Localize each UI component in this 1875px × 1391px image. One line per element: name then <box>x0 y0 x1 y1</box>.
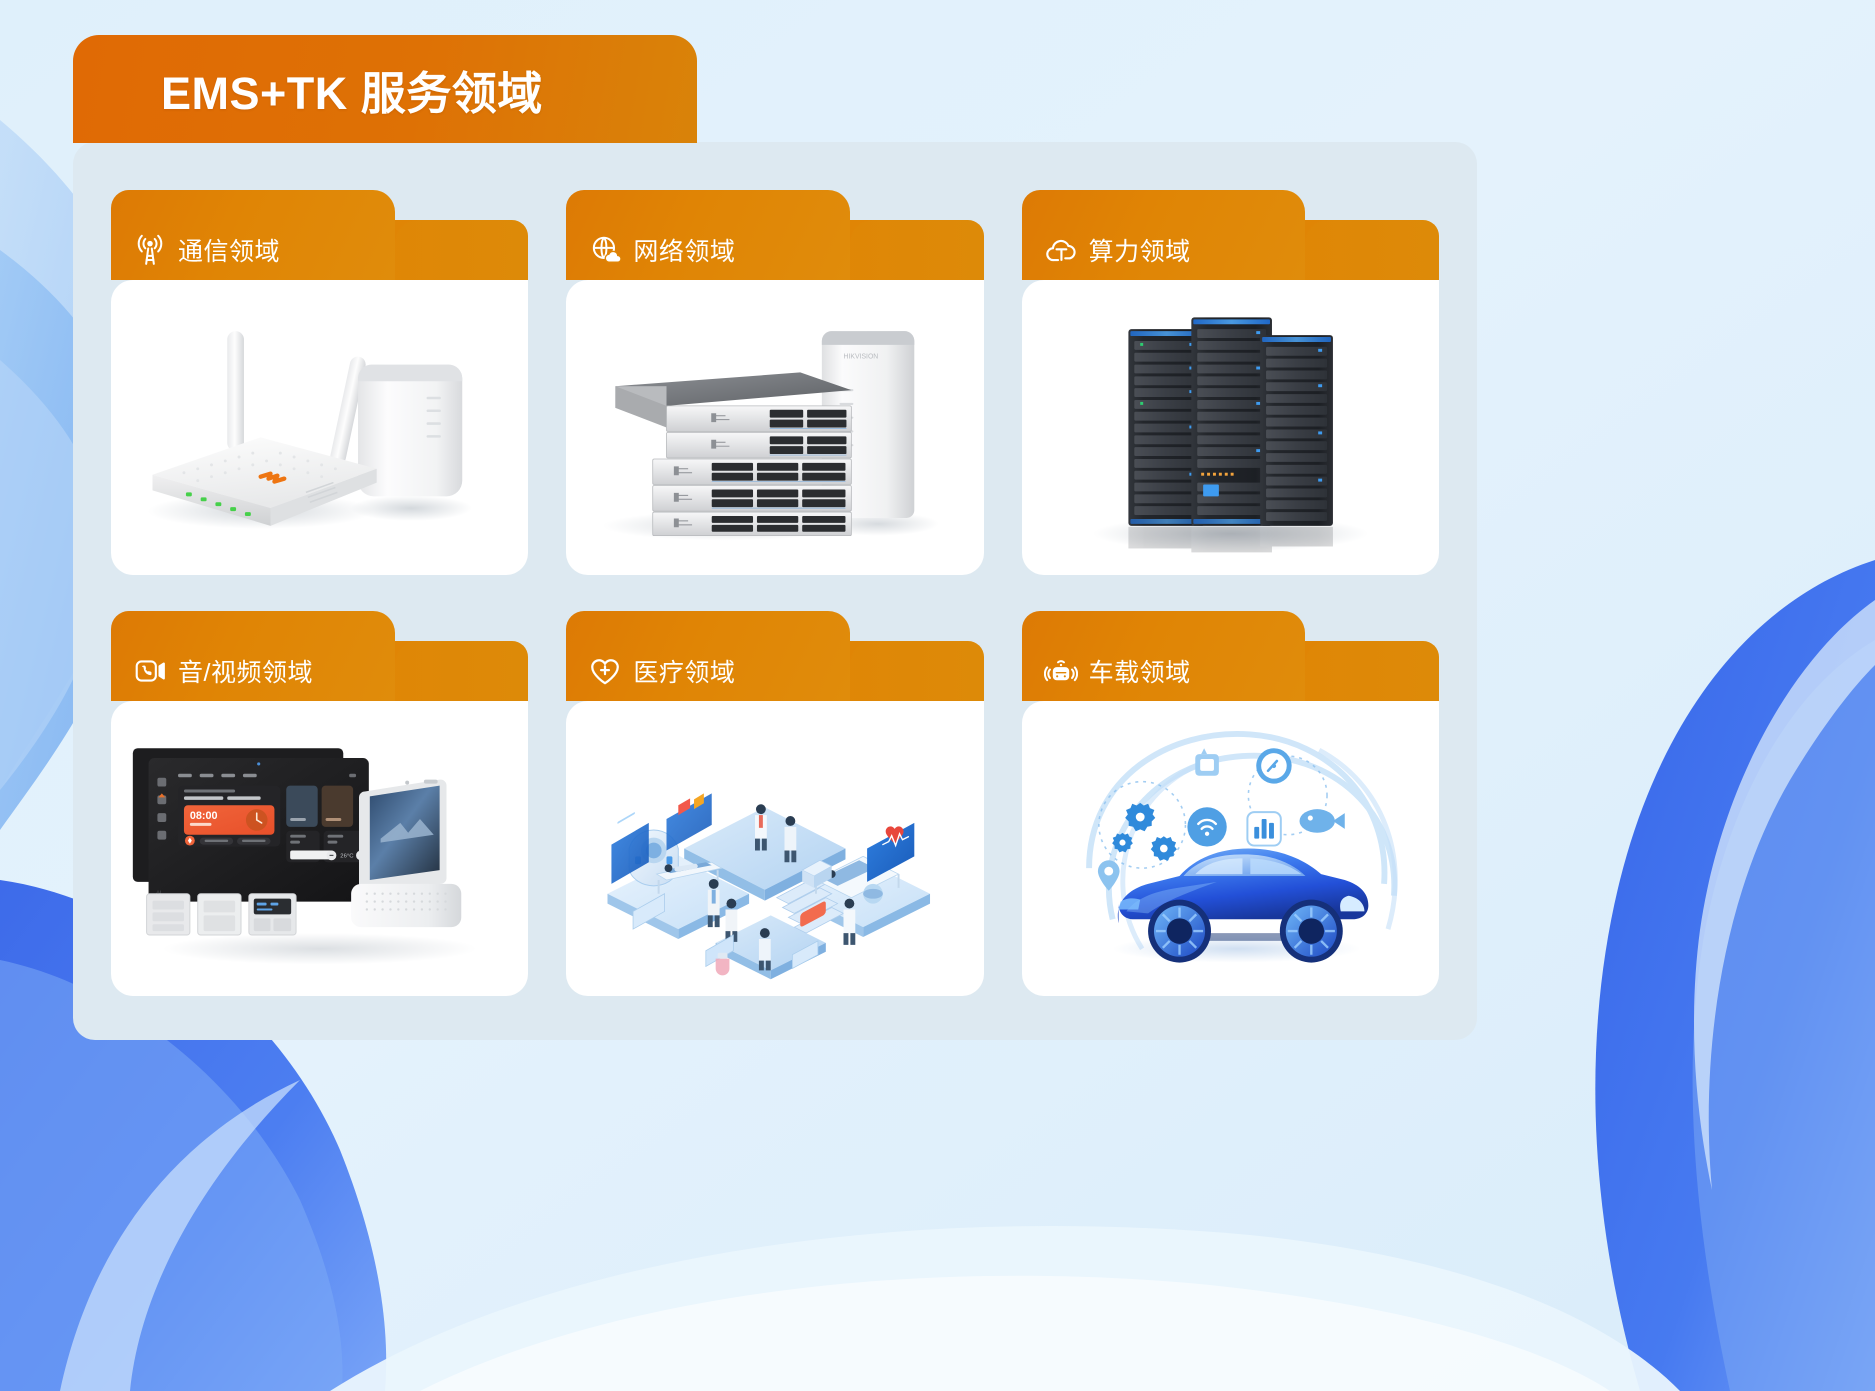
domain-card-grid: 通信领域 <box>73 142 1477 1040</box>
domain-card-medical[interactable]: 医疗领域 <box>566 611 983 996</box>
card-tab: 网络领域 <box>566 190 850 280</box>
broadcast-tower-icon <box>133 233 167 267</box>
card-tab-notch <box>1305 641 1327 663</box>
domain-card-computing[interactable]: 算力领域 <box>1022 190 1439 575</box>
card-label: 音/视频领域 <box>178 653 313 689</box>
card-tab: 通信领域 <box>111 190 395 280</box>
svg-text:26°C: 26°C <box>340 853 354 859</box>
connected-car-icon <box>1044 654 1078 688</box>
card-body-network: HIKVISION <box>566 280 983 575</box>
card-label: 网络领域 <box>633 232 735 268</box>
card-tab-notch <box>1305 220 1327 242</box>
artwork-switch-stack-and-nas: HIKVISION <box>566 280 983 575</box>
heart-plus-icon <box>588 654 622 688</box>
page-title: EMS+TK 服务领域 <box>161 57 543 122</box>
card-tab: 算力领域 <box>1022 190 1306 280</box>
cloud-computing-icon <box>1044 233 1078 267</box>
card-body-computing <box>1022 280 1439 575</box>
domain-card-network[interactable]: 网络领域 <box>566 190 983 575</box>
card-tab: 医疗领域 <box>566 611 850 701</box>
domain-card-automotive[interactable]: 车载领域 <box>1022 611 1439 996</box>
domain-card-audio-video[interactable]: 音/视频领域 <box>111 611 528 996</box>
artwork-smart-panel-and-display: AI <box>111 701 528 996</box>
globe-cloud-icon <box>588 233 622 267</box>
video-call-icon <box>133 654 167 688</box>
content-panel: 通信领域 <box>73 142 1477 1040</box>
domain-card-communication[interactable]: 通信领域 <box>111 190 528 575</box>
card-tab-notch <box>850 641 872 663</box>
card-body-medical <box>566 701 983 996</box>
artwork-server-racks <box>1022 280 1439 575</box>
card-label: 算力领域 <box>1089 232 1191 268</box>
card-tab-notch <box>395 641 417 663</box>
artwork-connected-vehicle <box>1022 701 1439 996</box>
card-tab: 车载领域 <box>1022 611 1306 701</box>
card-tab-notch <box>850 220 872 242</box>
card-tab: 音/视频领域 <box>111 611 395 701</box>
card-tab-notch <box>395 220 417 242</box>
svg-text:HIKVISION: HIKVISION <box>844 354 879 361</box>
card-body-automotive <box>1022 701 1439 996</box>
artwork-isometric-hospital <box>566 701 983 996</box>
page-title-banner: EMS+TK 服务领域 <box>73 35 697 143</box>
card-label: 车载领域 <box>1089 653 1191 689</box>
svg-text:08:00: 08:00 <box>190 810 218 822</box>
card-body-communication <box>111 280 528 575</box>
artwork-wifi-router-and-cpe <box>111 280 528 575</box>
card-body-audio-video: AI <box>111 701 528 996</box>
card-label: 通信领域 <box>178 232 280 268</box>
card-label: 医疗领域 <box>633 653 735 689</box>
